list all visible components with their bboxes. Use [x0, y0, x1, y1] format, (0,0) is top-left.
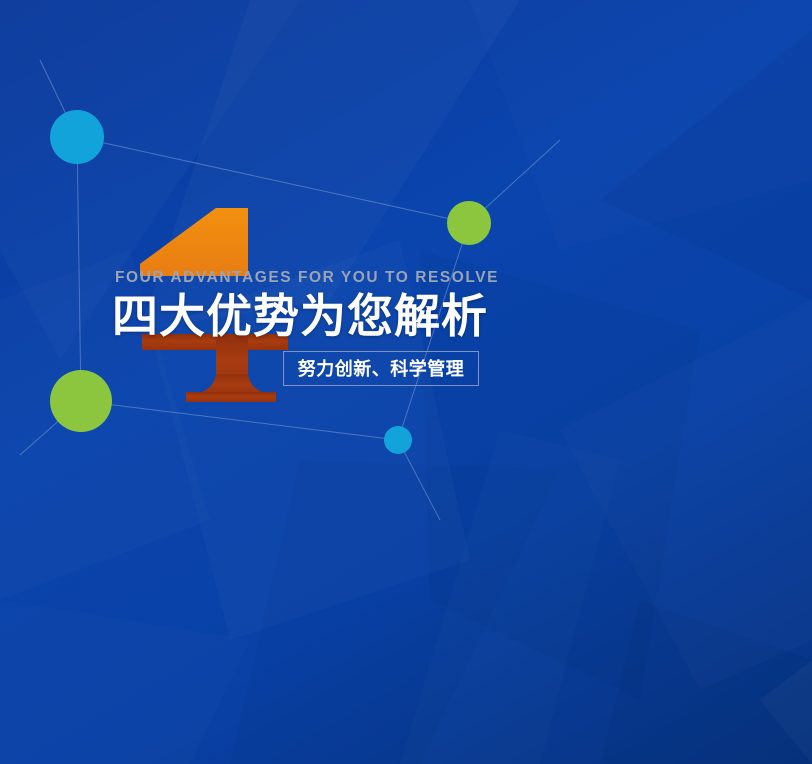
page-title: 四大优势为您解析: [112, 293, 712, 339]
network-line-left: [77, 137, 81, 401]
node-circle-green-left: [50, 370, 112, 432]
network-line-top: [77, 137, 469, 223]
promo-banner: FOUR ADVANTAGES FOR YOU TO RESOLVE 四大优势为…: [0, 0, 812, 764]
tagline-box: 努力创新、科学管理: [283, 351, 479, 386]
headline-block: FOUR ADVANTAGES FOR YOU TO RESOLVE 四大优势为…: [112, 270, 712, 339]
tagline-text: 努力创新、科学管理: [298, 360, 465, 378]
eyebrow-text: FOUR ADVANTAGES FOR YOU TO RESOLVE: [115, 270, 712, 286]
node-circle-cyan-bottom: [384, 426, 412, 454]
node-circle-cyan-top: [50, 110, 104, 164]
network-line-bottom: [81, 401, 398, 440]
node-circle-green-right: [447, 201, 491, 245]
